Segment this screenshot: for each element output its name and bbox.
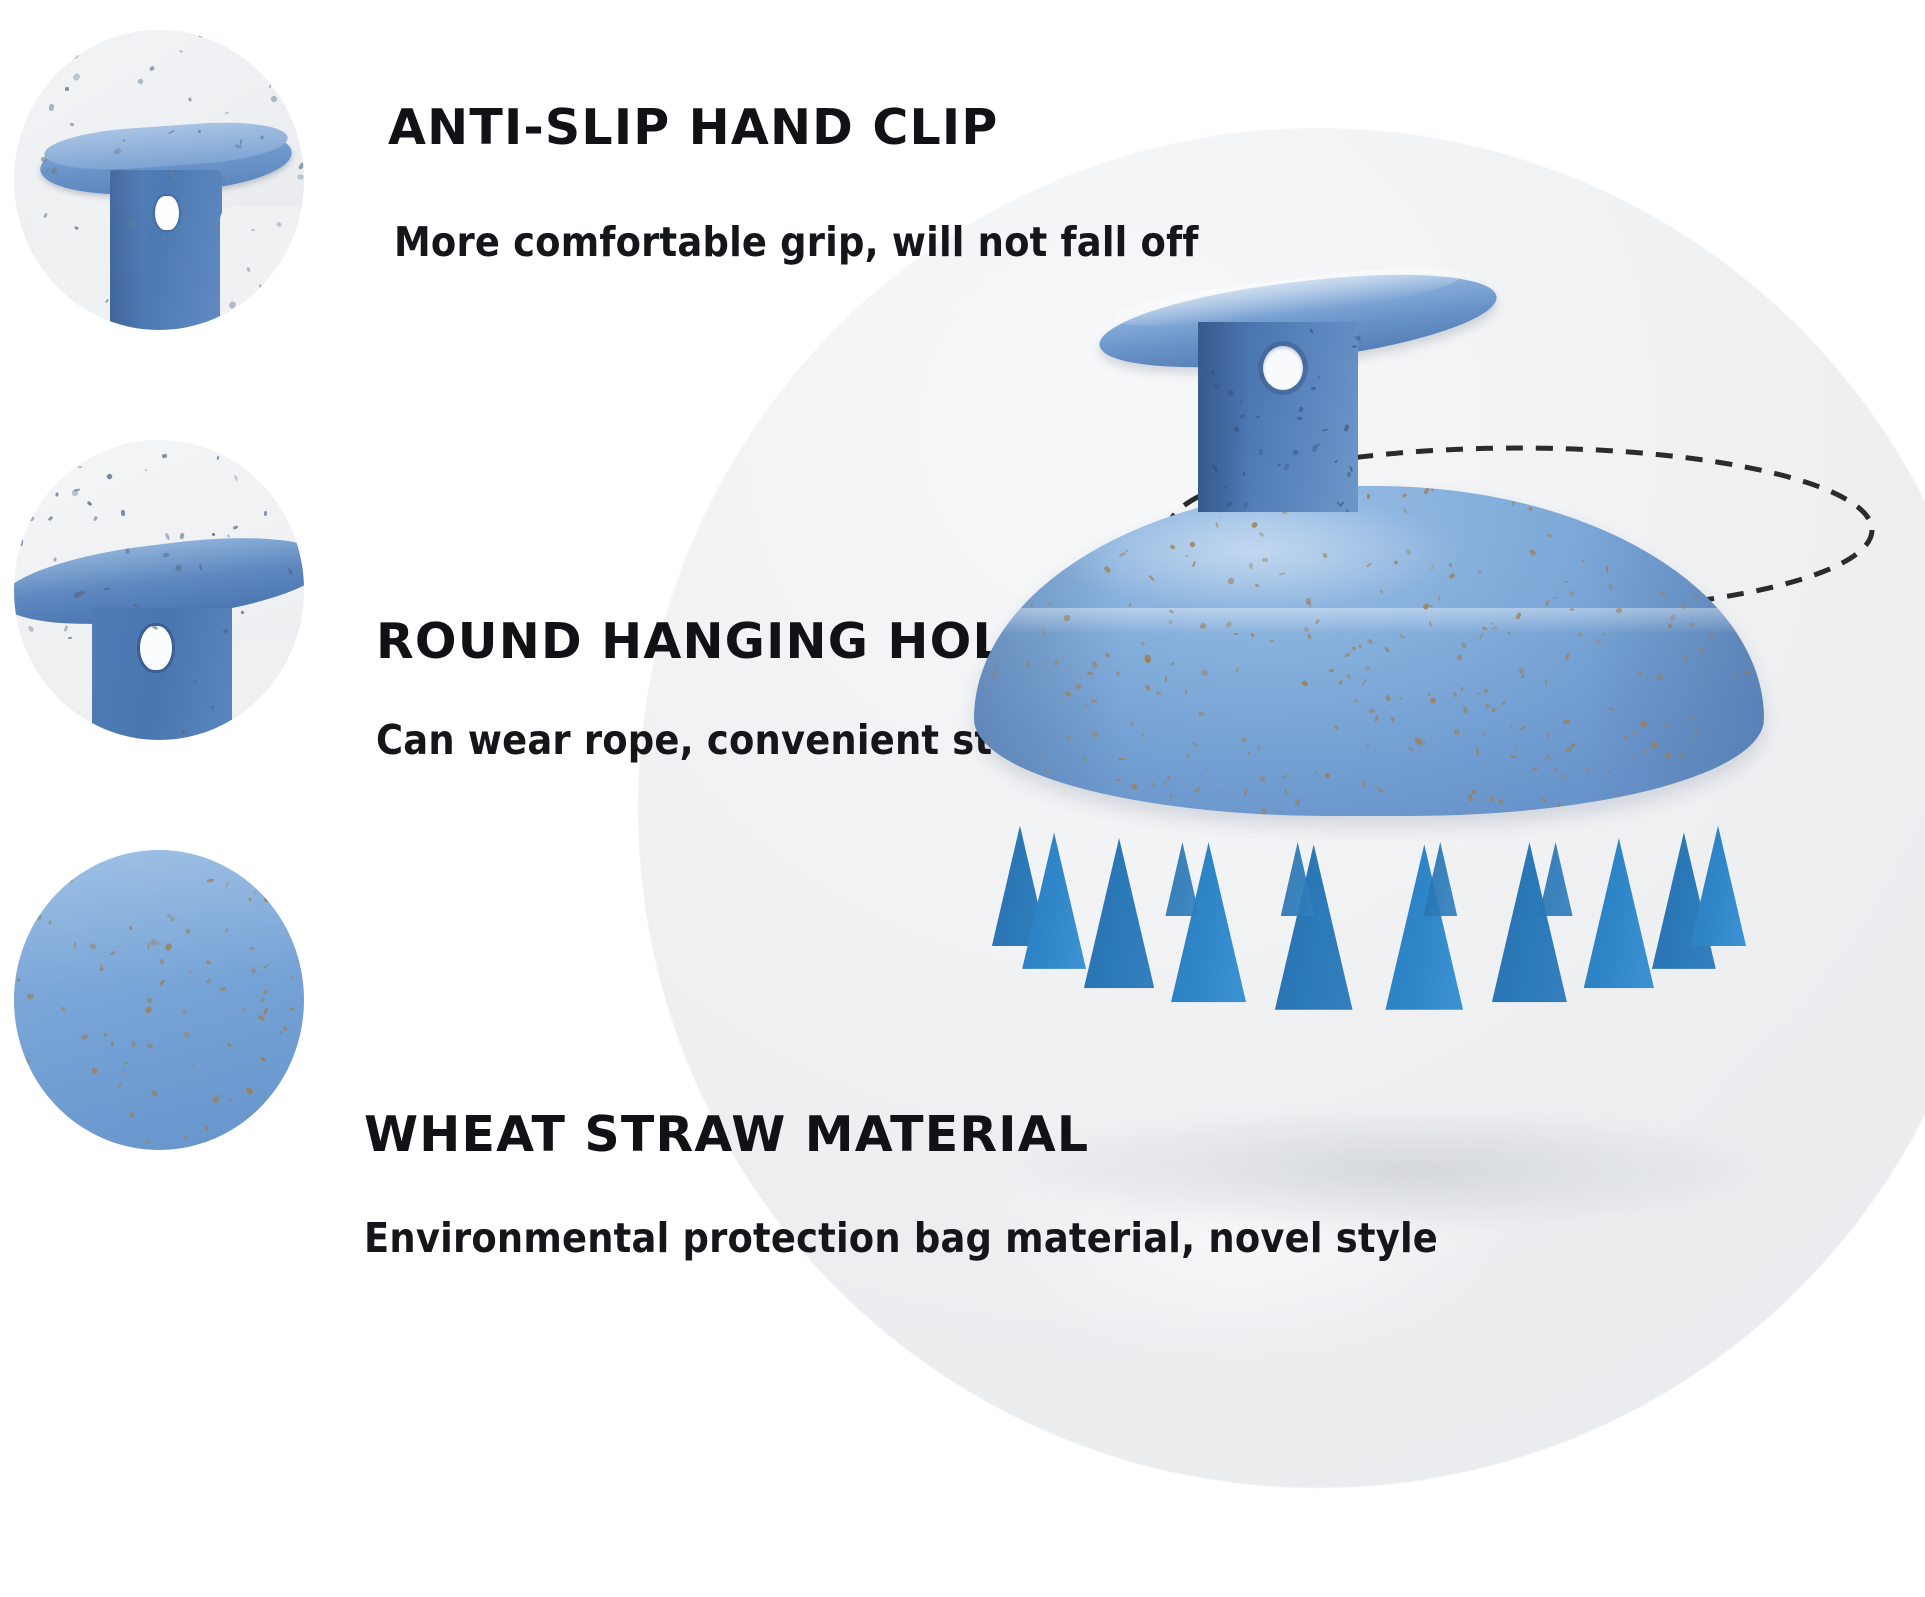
thumb1-notch-left [34, 180, 116, 330]
wheat-straw-texture-thumbnail [14, 850, 304, 1150]
shampoo-brush-product-photo [960, 250, 1780, 1150]
hanging-hole-closeup-thumbnail [14, 440, 304, 740]
infographic-canvas: ANTI-SLIP HAND CLIP More comfortable gri… [0, 0, 1925, 1597]
feature-2-headline: ROUND HANGING HOLE [376, 617, 1040, 666]
dome-rim [974, 608, 1764, 634]
product-handle-stem-shadow [1198, 322, 1250, 512]
thumb2-hanging-hole [140, 626, 172, 670]
thumb3-sheen [14, 850, 304, 1150]
thumb1-hanging-hole [155, 196, 179, 230]
hand-clip-closeup-thumbnail [14, 30, 304, 330]
thumb1-stem-shadow [110, 170, 144, 330]
product-hanging-hole [1263, 346, 1303, 390]
dome-shade-right [1584, 486, 1764, 816]
feature-1-headline: ANTI-SLIP HAND CLIP [388, 103, 998, 152]
thumb2-notch-right [232, 640, 304, 740]
thumb2-notch-left [14, 626, 96, 740]
thumb1-notch-right [220, 206, 304, 330]
product-bristles [974, 790, 1764, 1020]
product-dome-body [974, 486, 1764, 816]
